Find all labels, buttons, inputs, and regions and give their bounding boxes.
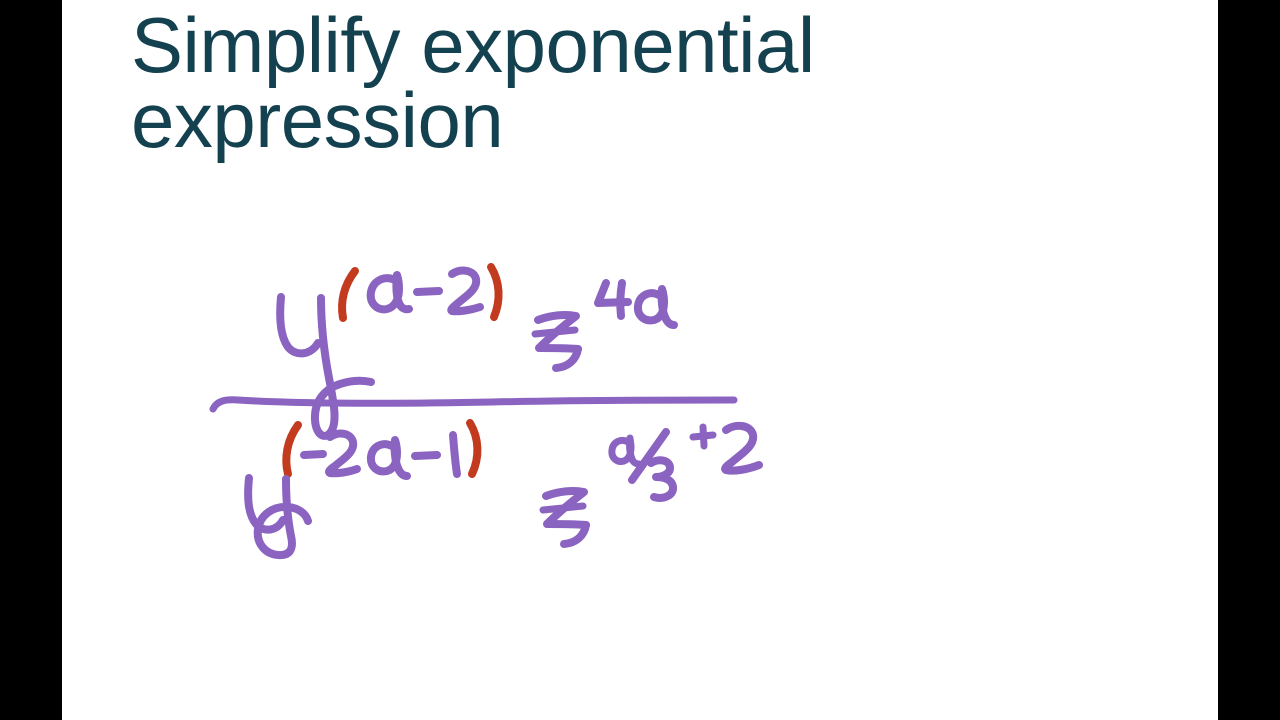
denominator-z-exponent <box>612 426 759 498</box>
letterbox-bar-right <box>1218 0 1280 720</box>
numerator-y-exponent <box>342 267 499 318</box>
denominator-y-glyph <box>248 478 308 555</box>
denominator-z-glyph <box>543 491 586 544</box>
slide-root: Simplify exponential expression y^(a-2) … <box>0 0 1280 720</box>
numerator-y-glyph <box>280 297 371 436</box>
handwritten-expression: y^(a-2) z^(4a) / ( y^(-2a-1) z^(a/3+2) )… <box>62 0 1218 720</box>
numerator-z-glyph <box>535 315 578 368</box>
letterbox-bar-left <box>0 0 62 720</box>
fraction-bar <box>213 400 734 409</box>
numerator-z-exponent <box>598 283 674 325</box>
slide-canvas: Simplify exponential expression y^(a-2) … <box>62 0 1218 720</box>
expression-ink-svg <box>62 0 1218 720</box>
